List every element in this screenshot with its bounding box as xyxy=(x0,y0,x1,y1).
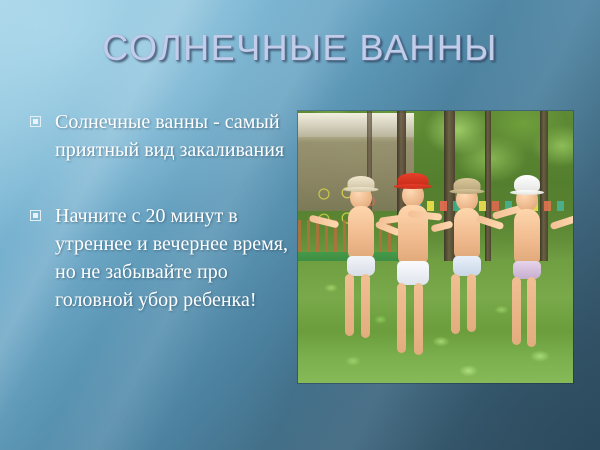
slide-photo xyxy=(298,111,573,383)
list-item[interactable]: Солнечные ванны - самый приятный вид зак… xyxy=(30,108,290,164)
child-leg-right xyxy=(527,277,536,347)
square-bullet-icon xyxy=(30,116,41,127)
beige-bucket-hat-icon xyxy=(348,176,375,190)
child-third xyxy=(436,178,498,350)
square-bullet-icon xyxy=(30,210,41,221)
child-leg-right xyxy=(414,283,423,355)
red-cap-icon xyxy=(397,173,428,187)
bullet-list: Солнечные ванны - самый приятный вид зак… xyxy=(30,108,290,314)
photo-scene xyxy=(298,111,573,383)
child-leg-right xyxy=(361,274,370,338)
child-leg-right xyxy=(467,274,476,332)
white-kerchief-icon xyxy=(514,175,540,193)
presentation-slide: СОЛНЕЧНЫЕ ВАННЫ Солнечные ванны - самый … xyxy=(0,0,600,450)
list-item-text: Начните с 20 минут в утреннее и вечернее… xyxy=(55,202,290,314)
child-torso xyxy=(348,206,374,260)
child-shorts xyxy=(397,261,429,285)
list-item-text: Солнечные ванны - самый приятный вид зак… xyxy=(55,108,290,164)
page-title: СОЛНЕЧНЫЕ ВАННЫ xyxy=(0,26,600,70)
child-leg-left xyxy=(345,274,354,336)
child-leg-left xyxy=(397,283,406,353)
list-item[interactable]: Начните с 20 минут в утреннее и вечернее… xyxy=(30,202,290,314)
child-torso xyxy=(514,209,540,265)
child-right xyxy=(496,175,558,361)
child-leg-left xyxy=(512,277,521,345)
child-shorts xyxy=(453,256,481,276)
child-leg-left xyxy=(451,274,460,334)
tan-cap-icon xyxy=(453,178,480,192)
child-torso xyxy=(454,208,480,260)
child-shorts xyxy=(347,256,375,276)
